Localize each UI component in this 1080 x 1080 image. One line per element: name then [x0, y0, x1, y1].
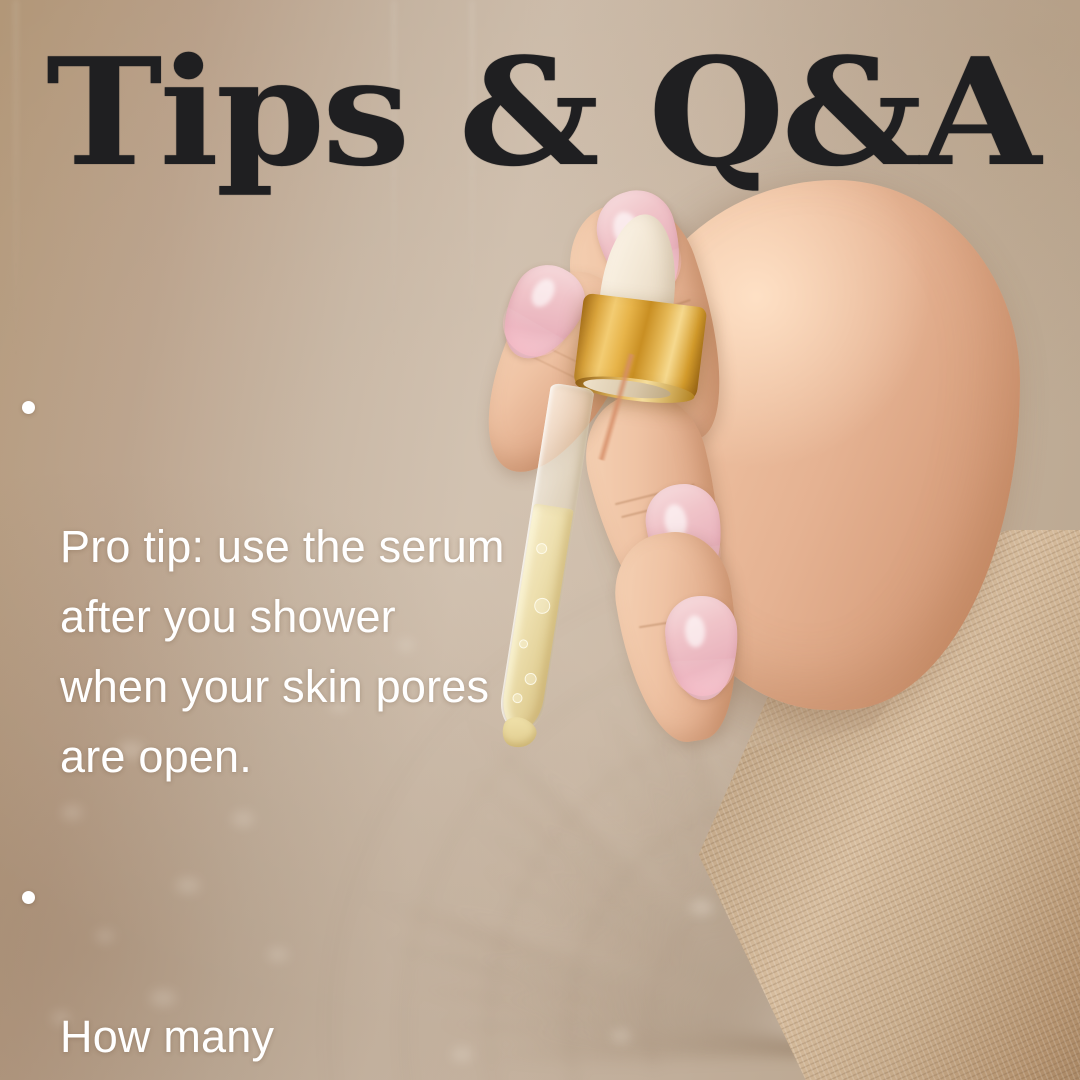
list-item: Pro tip: use the serum after you shower … [0, 372, 900, 792]
bullet-list: Pro tip: use the serum after you shower … [0, 372, 900, 1080]
bullet-dot-icon [22, 401, 35, 414]
bullet-dot-icon [22, 891, 35, 904]
list-item-text: How many bottles do i need to achieve pe… [60, 1011, 749, 1080]
page-title: Tips & Q&A [46, 44, 1038, 180]
list-item: How many bottles do i need to achieve pe… [0, 862, 900, 1080]
list-item-text: Pro tip: use the serum after you shower … [60, 521, 505, 782]
social-post-canvas: Tips & Q&A Pro tip: use the serum after … [0, 0, 1080, 1080]
